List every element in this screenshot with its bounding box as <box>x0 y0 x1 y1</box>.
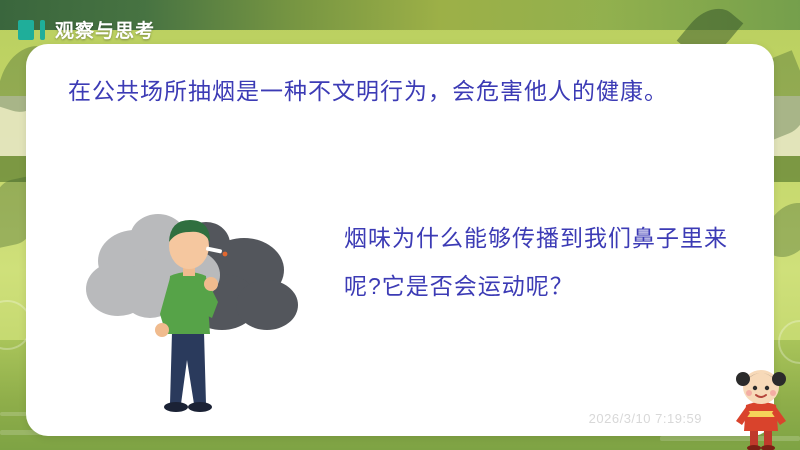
paragraph-top: 在公共场所抽烟是一种不文明行为，会危害他人的健康。 <box>68 68 738 114</box>
title-accent-bar-icon <box>40 20 45 40</box>
paragraph-question: 烟味为什么能够传播到我们鼻子里来呢?它是否会运动呢？ <box>344 214 744 310</box>
title-accent-block-icon <box>18 20 34 40</box>
man-figure-icon <box>86 184 336 436</box>
timestamp-label: 2026/3/10 7:19:59 <box>589 411 702 426</box>
page-title: 观察与思考 <box>55 16 155 43</box>
content-card: 在公共场所抽烟是一种不文明行为，会危害他人的健康。 烟味为什么能够传播到我们鼻子… <box>26 44 774 436</box>
slide-root: 观察与思考 在公共场所抽烟是一种不文明行为，会危害他人的健康。 烟味为什么能够传… <box>0 0 800 450</box>
cartoon-mascot <box>730 365 792 450</box>
mascot-icon <box>730 365 792 450</box>
slide-title-row: 观察与思考 <box>18 16 155 43</box>
man-smoking-illustration <box>86 184 336 436</box>
